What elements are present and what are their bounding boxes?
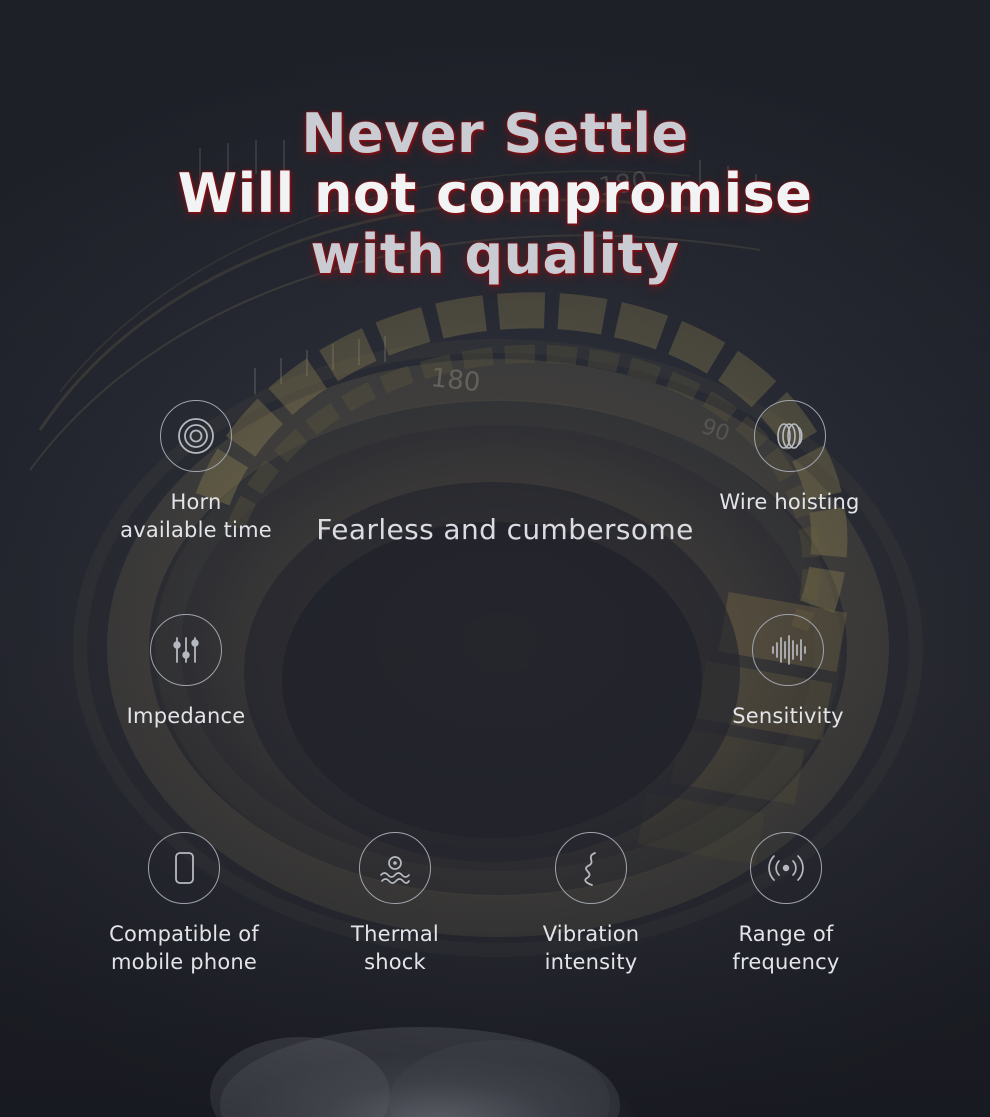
center-phrase: Fearless and cumbersome <box>295 508 715 551</box>
feature-label: Wire hoisting <box>672 488 907 516</box>
feature-sensitivity: Sensitivity <box>676 614 900 730</box>
svg-text:180: 180 <box>429 363 482 398</box>
feature-label: Thermal shock <box>310 920 480 977</box>
feature-label: Compatible of mobile phone <box>68 920 300 977</box>
wire-coil-icon <box>754 400 826 472</box>
equalizer-sliders-icon <box>150 614 222 686</box>
feature-label: Vibration intensity <box>505 920 677 977</box>
feature-impedance: Impedance <box>72 614 300 730</box>
feature-label: Sensitivity <box>676 702 900 730</box>
bottom-product-silhouette <box>178 1032 698 1117</box>
feature-range-of-frequency: Range of frequency <box>700 832 872 977</box>
feature-vibration-intensity: Vibration intensity <box>505 832 677 977</box>
signal-radiation-icon <box>750 832 822 904</box>
waveform-bars-icon <box>752 614 824 686</box>
promo-banner: 180 180 90 Never Settle <box>0 0 990 1117</box>
feature-wire-hoisting: Wire hoisting <box>672 400 907 516</box>
feature-label: Horn available time <box>70 488 322 545</box>
vibration-wave-icon <box>555 832 627 904</box>
feature-thermal-shock: Thermal shock <box>310 832 480 977</box>
feature-label: Impedance <box>72 702 300 730</box>
heading-line-1: Never Settle <box>0 104 990 164</box>
page-title: Never Settle Will not compromise with qu… <box>0 104 990 285</box>
feature-label: Range of frequency <box>700 920 872 977</box>
heading-line-3: with quality <box>0 225 990 285</box>
mobile-phone-icon <box>148 832 220 904</box>
heading-line-2: Will not compromise <box>0 164 990 224</box>
feature-compatible-mobile-phone: Compatible of mobile phone <box>68 832 300 977</box>
thermometer-waves-icon <box>359 832 431 904</box>
concentric-circles-icon <box>160 400 232 472</box>
feature-horn-available-time: Horn available time <box>70 400 322 545</box>
